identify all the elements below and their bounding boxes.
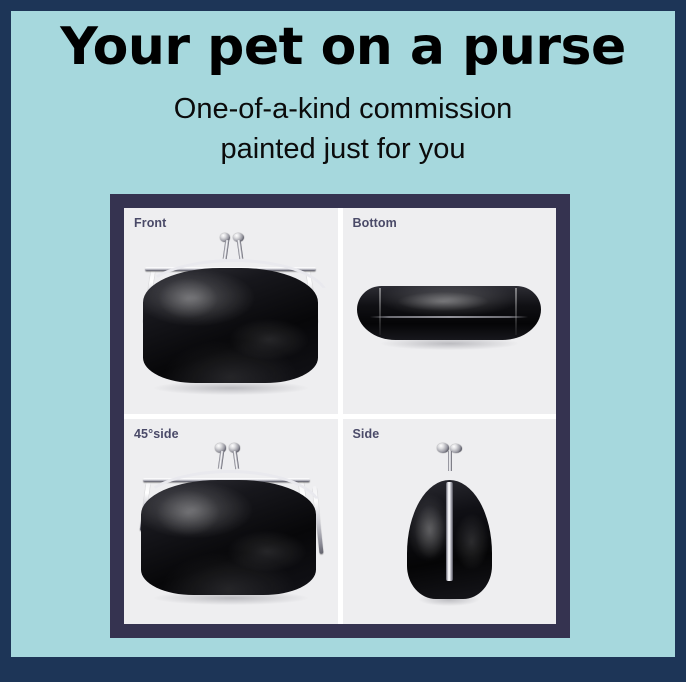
- photo-cell-bottom[interactable]: Bottom: [343, 208, 557, 414]
- gusset-crease-left: [379, 288, 381, 335]
- subtitle-line-2: painted just for you: [11, 129, 675, 169]
- page-title: Your pet on a purse: [11, 11, 675, 75]
- photo-label-side: Side: [353, 427, 380, 441]
- purse-image-angle: [124, 419, 338, 625]
- clasp-icon: [214, 443, 244, 476]
- gusset-crease-right: [515, 288, 517, 335]
- purse-body: [357, 286, 541, 339]
- photo-label-bottom: Bottom: [353, 216, 397, 230]
- product-photo-card: Front: [110, 194, 570, 638]
- photo-label-front: Front: [134, 216, 166, 230]
- photo-cell-side[interactable]: Side: [343, 419, 557, 625]
- photo-cell-front[interactable]: Front: [124, 208, 338, 414]
- photo-label-angle: 45°side: [134, 427, 179, 441]
- purse-ground-shadow: [154, 381, 308, 395]
- bottom-seam: [370, 316, 528, 318]
- poster: Your pet on a purse One-of-a-kind commis…: [0, 0, 686, 682]
- subtitle-line-1: One-of-a-kind commission: [11, 89, 675, 129]
- product-photo-grid: Front: [124, 208, 556, 624]
- frame-spine: [446, 482, 453, 581]
- purse-image-front: [124, 208, 338, 414]
- purse-image-side: [343, 419, 557, 625]
- poster-inner-panel: Your pet on a purse One-of-a-kind commis…: [11, 11, 675, 657]
- clasp-icon: [436, 443, 464, 472]
- clasp-icon: [218, 233, 248, 266]
- purse-image-bottom: [343, 208, 557, 414]
- page-subtitle: One-of-a-kind commission painted just fo…: [11, 75, 675, 169]
- photo-cell-angle[interactable]: 45°side: [124, 419, 338, 625]
- headline-block: Your pet on a purse One-of-a-kind commis…: [11, 11, 675, 169]
